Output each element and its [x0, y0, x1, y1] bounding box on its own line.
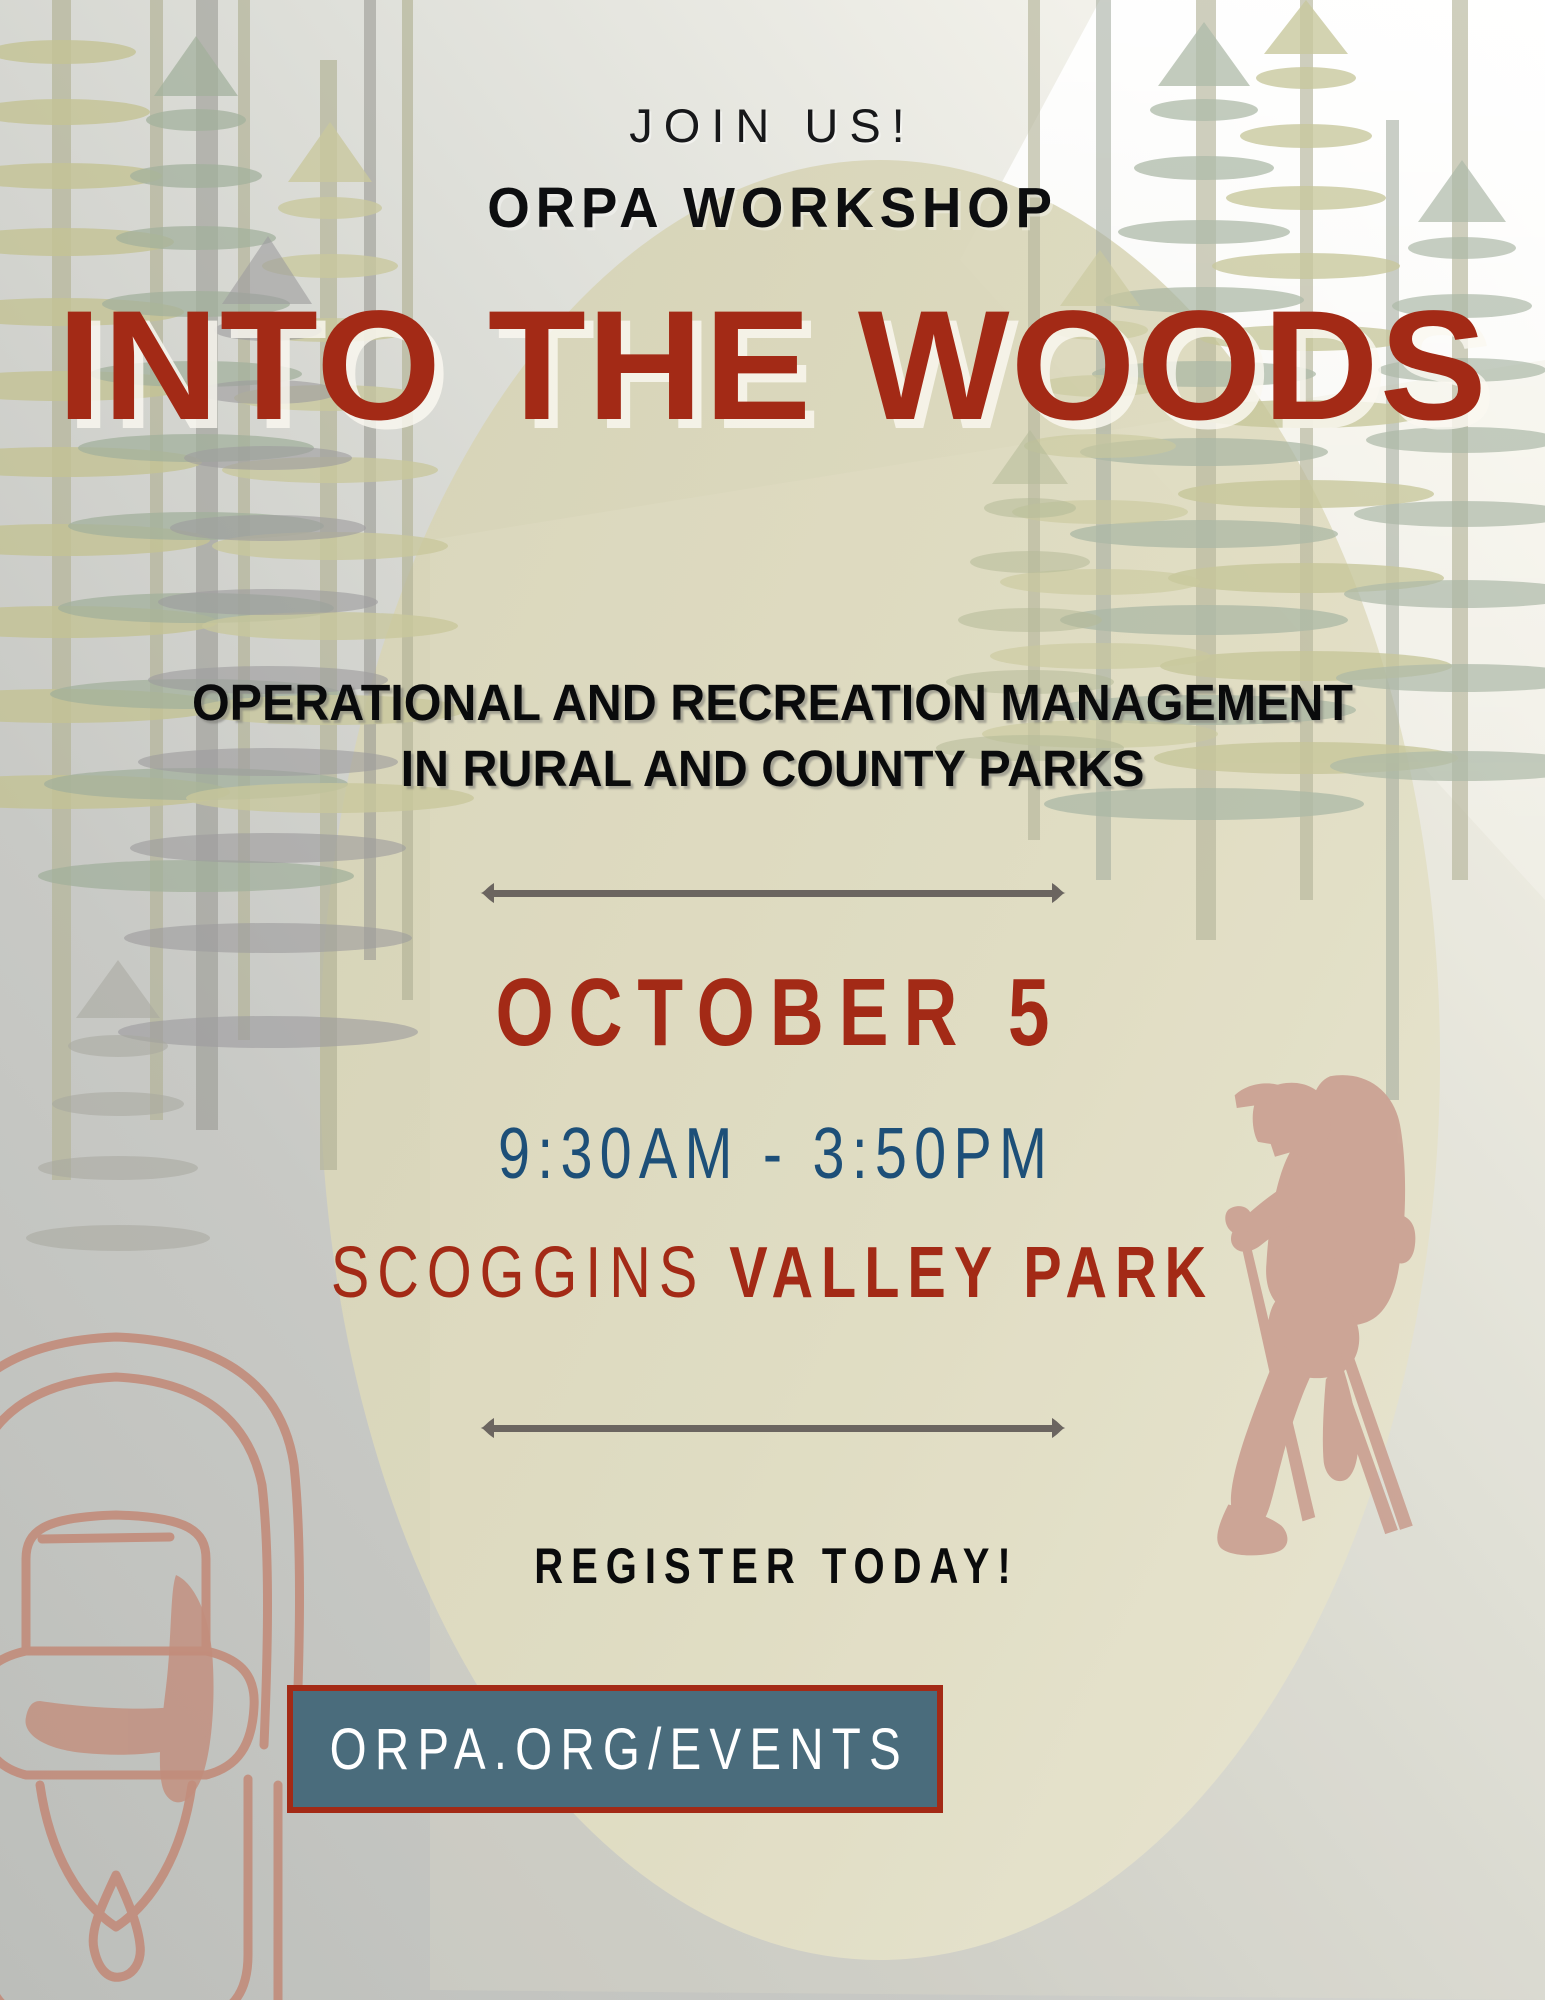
divider-rule-icon [478, 880, 1068, 906]
eyebrow-text: JOIN US! [0, 98, 1545, 153]
divider-bottom [478, 1415, 1068, 1441]
event-venue: SCOGGINS VALLEY PARK [155, 1232, 1391, 1314]
venue-part-2: VALLEY PARK [729, 1233, 1214, 1313]
register-url-button[interactable]: ORPA.ORG/EVENTS [287, 1685, 943, 1813]
cta-text: REGISTER TODAY! [155, 1537, 1391, 1595]
register-url-label: ORPA.ORG/EVENTS [321, 1716, 909, 1783]
divider-rule-icon [478, 1415, 1068, 1441]
event-date: OCTOBER 5 [170, 958, 1375, 1068]
event-time: 9:30AM - 3:50PM [155, 1113, 1391, 1195]
divider-top [478, 880, 1068, 906]
venue-part-1: SCOGGINS [331, 1233, 729, 1313]
organization-heading: ORPA WORKSHOP [31, 175, 1514, 241]
subtitle-line-2: IN RURAL AND COUNTY PARKS [39, 736, 1507, 802]
poster-content: JOIN US! ORPA WORKSHOP INTO THE WOODS OP… [0, 0, 1545, 2000]
poster-title: INTO THE WOODS [0, 288, 1545, 444]
poster-subtitle: OPERATIONAL AND RECREATION MANAGEMENT IN… [39, 670, 1507, 803]
poster-canvas: JOIN US! ORPA WORKSHOP INTO THE WOODS OP… [0, 0, 1545, 2000]
subtitle-line-1: OPERATIONAL AND RECREATION MANAGEMENT [39, 670, 1507, 736]
